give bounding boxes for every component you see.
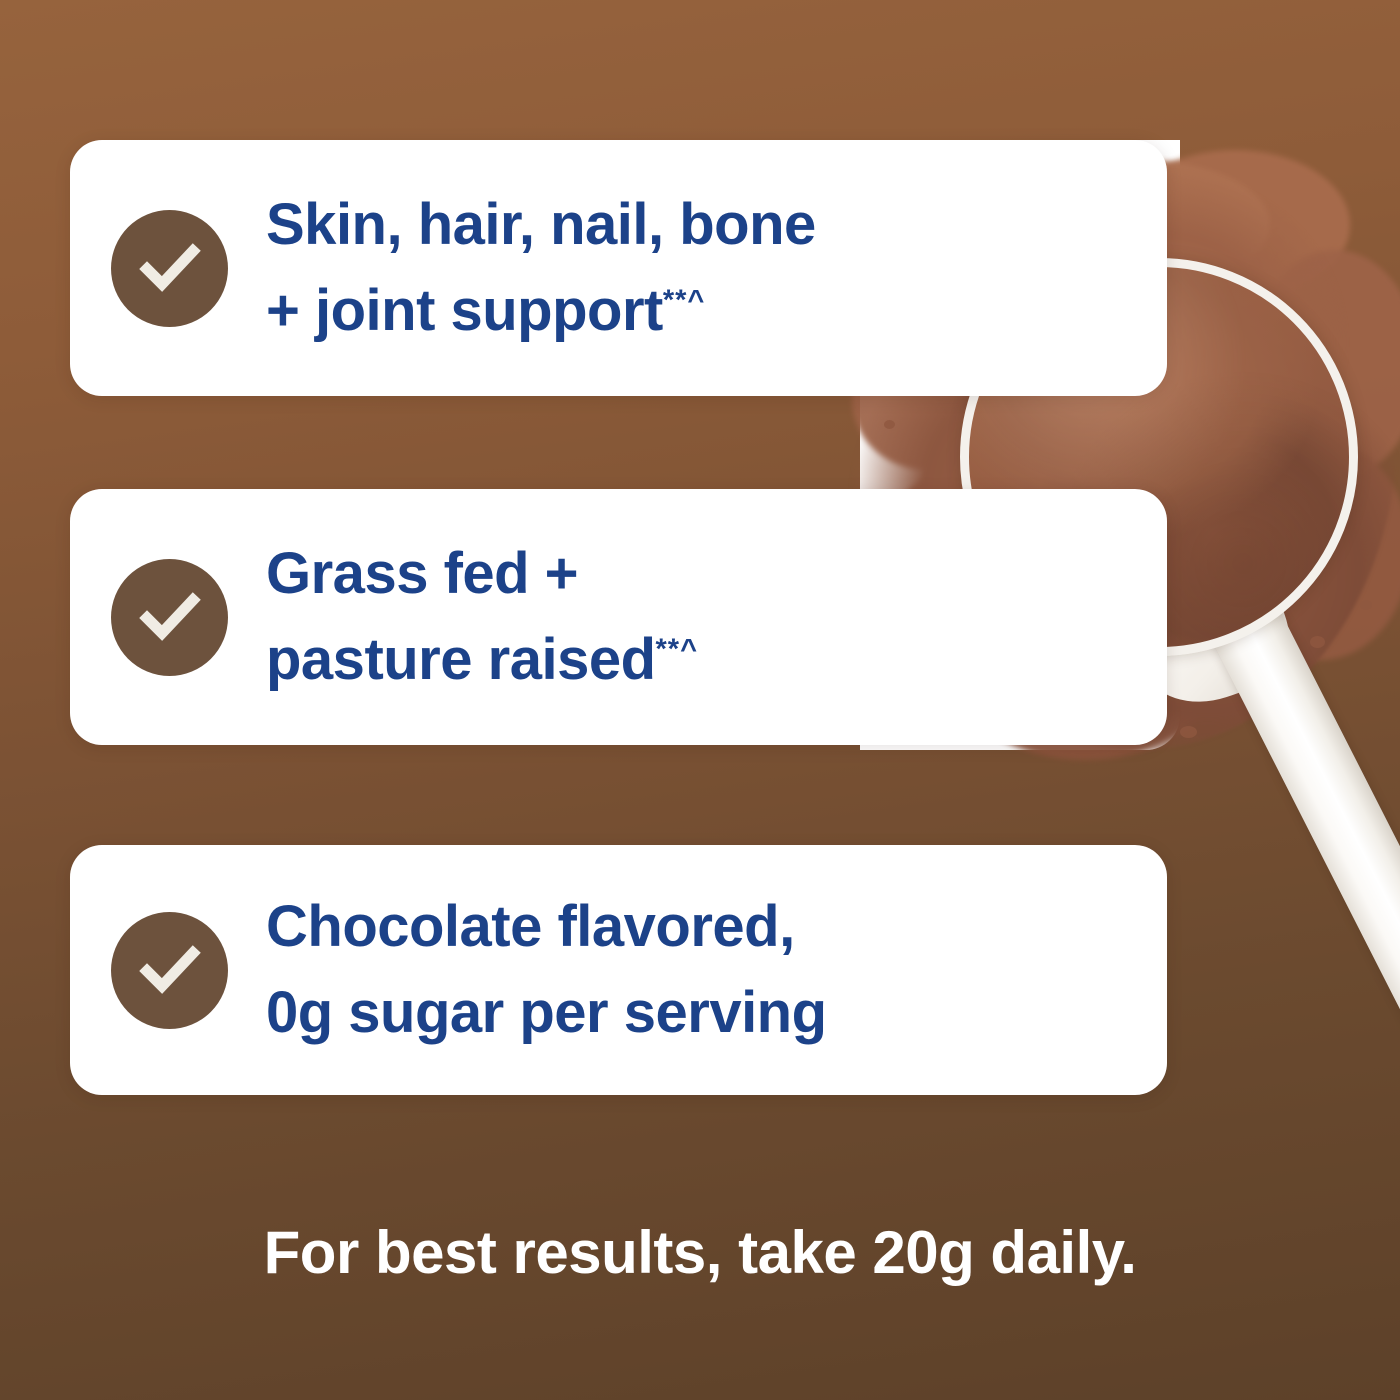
check-icon <box>111 912 228 1029</box>
feature-text: Chocolate flavored, 0g sugar per serving <box>266 884 827 1056</box>
check-icon <box>111 210 228 327</box>
product-feature-graphic: Skin, hair, nail, bone + joint support**… <box>0 0 1400 1400</box>
feature-line-1: Grass fed + <box>266 531 698 617</box>
feature-line-1: Skin, hair, nail, bone <box>266 182 816 268</box>
feature-superscript: **^ <box>656 634 699 666</box>
feature-line-2: + joint support <box>266 278 663 343</box>
content-layer: Skin, hair, nail, bone + joint support**… <box>0 0 1400 1400</box>
usage-note: For best results, take 20g daily. <box>0 1218 1400 1287</box>
feature-text: Grass fed + pasture raised**^ <box>266 531 698 703</box>
feature-line-2: 0g sugar per serving <box>266 980 827 1045</box>
feature-card: Skin, hair, nail, bone + joint support**… <box>70 140 1167 396</box>
feature-line-2: pasture raised <box>266 627 656 692</box>
feature-text: Skin, hair, nail, bone + joint support**… <box>266 182 816 354</box>
feature-line-1: Chocolate flavored, <box>266 884 827 970</box>
feature-superscript: **^ <box>663 285 706 317</box>
check-icon <box>111 559 228 676</box>
feature-card: Chocolate flavored, 0g sugar per serving <box>70 845 1167 1095</box>
feature-card: Grass fed + pasture raised**^ <box>70 489 1167 745</box>
